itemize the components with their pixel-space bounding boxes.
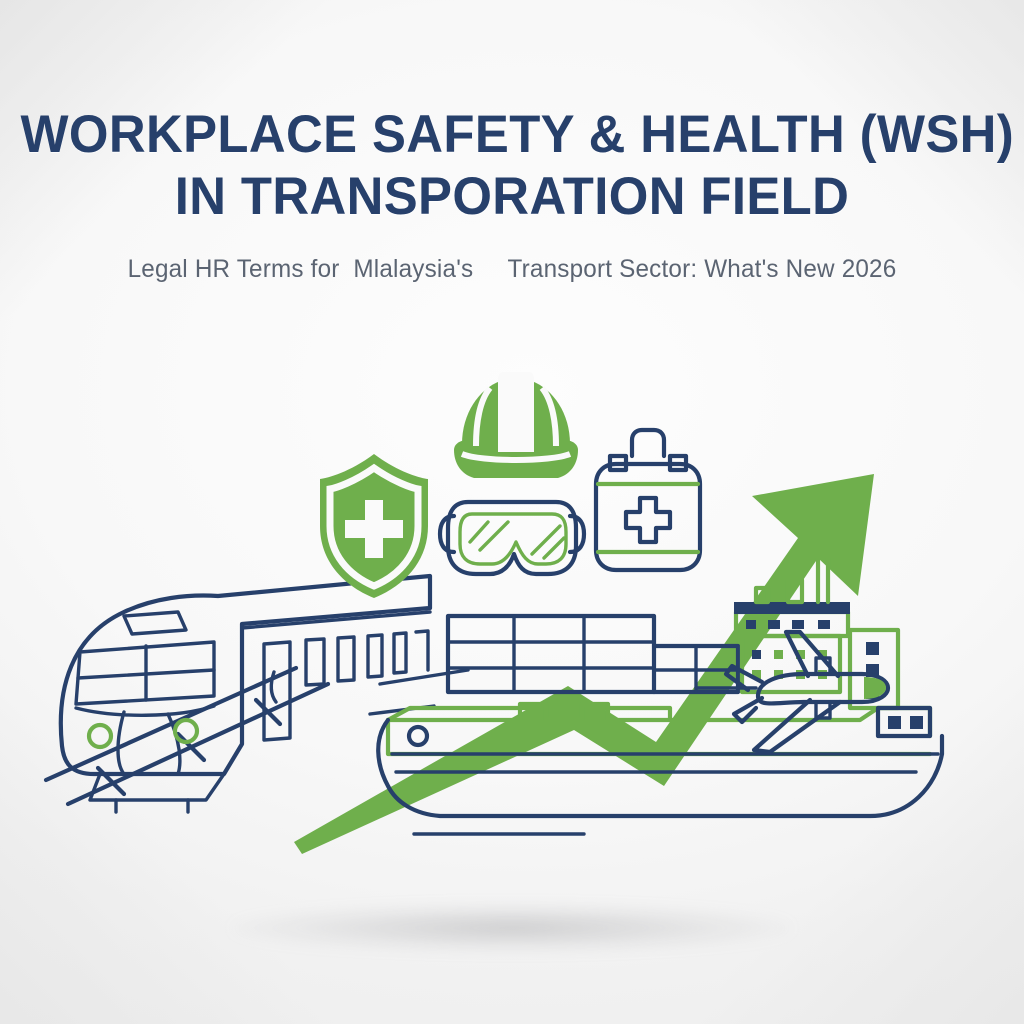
title-line-1: WORKPLACE SAFETY & HEALTH (WSH) — [20, 105, 1014, 164]
poster-canvas: WORKPLACE SAFETY & HEALTH (WSH) IN TRANS… — [0, 0, 1024, 1024]
page-subtitle: Legal HR Terms for Mlalaysia's Transport… — [15, 254, 1008, 284]
page-title: WORKPLACE SAFETY & HEALTH (WSH) IN TRANS… — [20, 104, 1003, 228]
title-line-2: IN TRANSPORATION FIELD — [20, 166, 1003, 228]
first-aid-kit-icon — [596, 430, 700, 570]
cargo-ship-icon — [370, 558, 942, 834]
illustration-group: .nv { fill:none; stroke:#27406B; stroke-… — [0, 330, 1024, 930]
hard-hat-icon — [454, 372, 578, 478]
safety-goggles-icon — [440, 502, 584, 574]
train-icon — [46, 576, 430, 812]
transport-safety-illustration: .nv { fill:none; stroke:#27406B; stroke-… — [0, 330, 1024, 930]
heading-block: WORKPLACE SAFETY & HEALTH (WSH) IN TRANS… — [0, 104, 1024, 284]
